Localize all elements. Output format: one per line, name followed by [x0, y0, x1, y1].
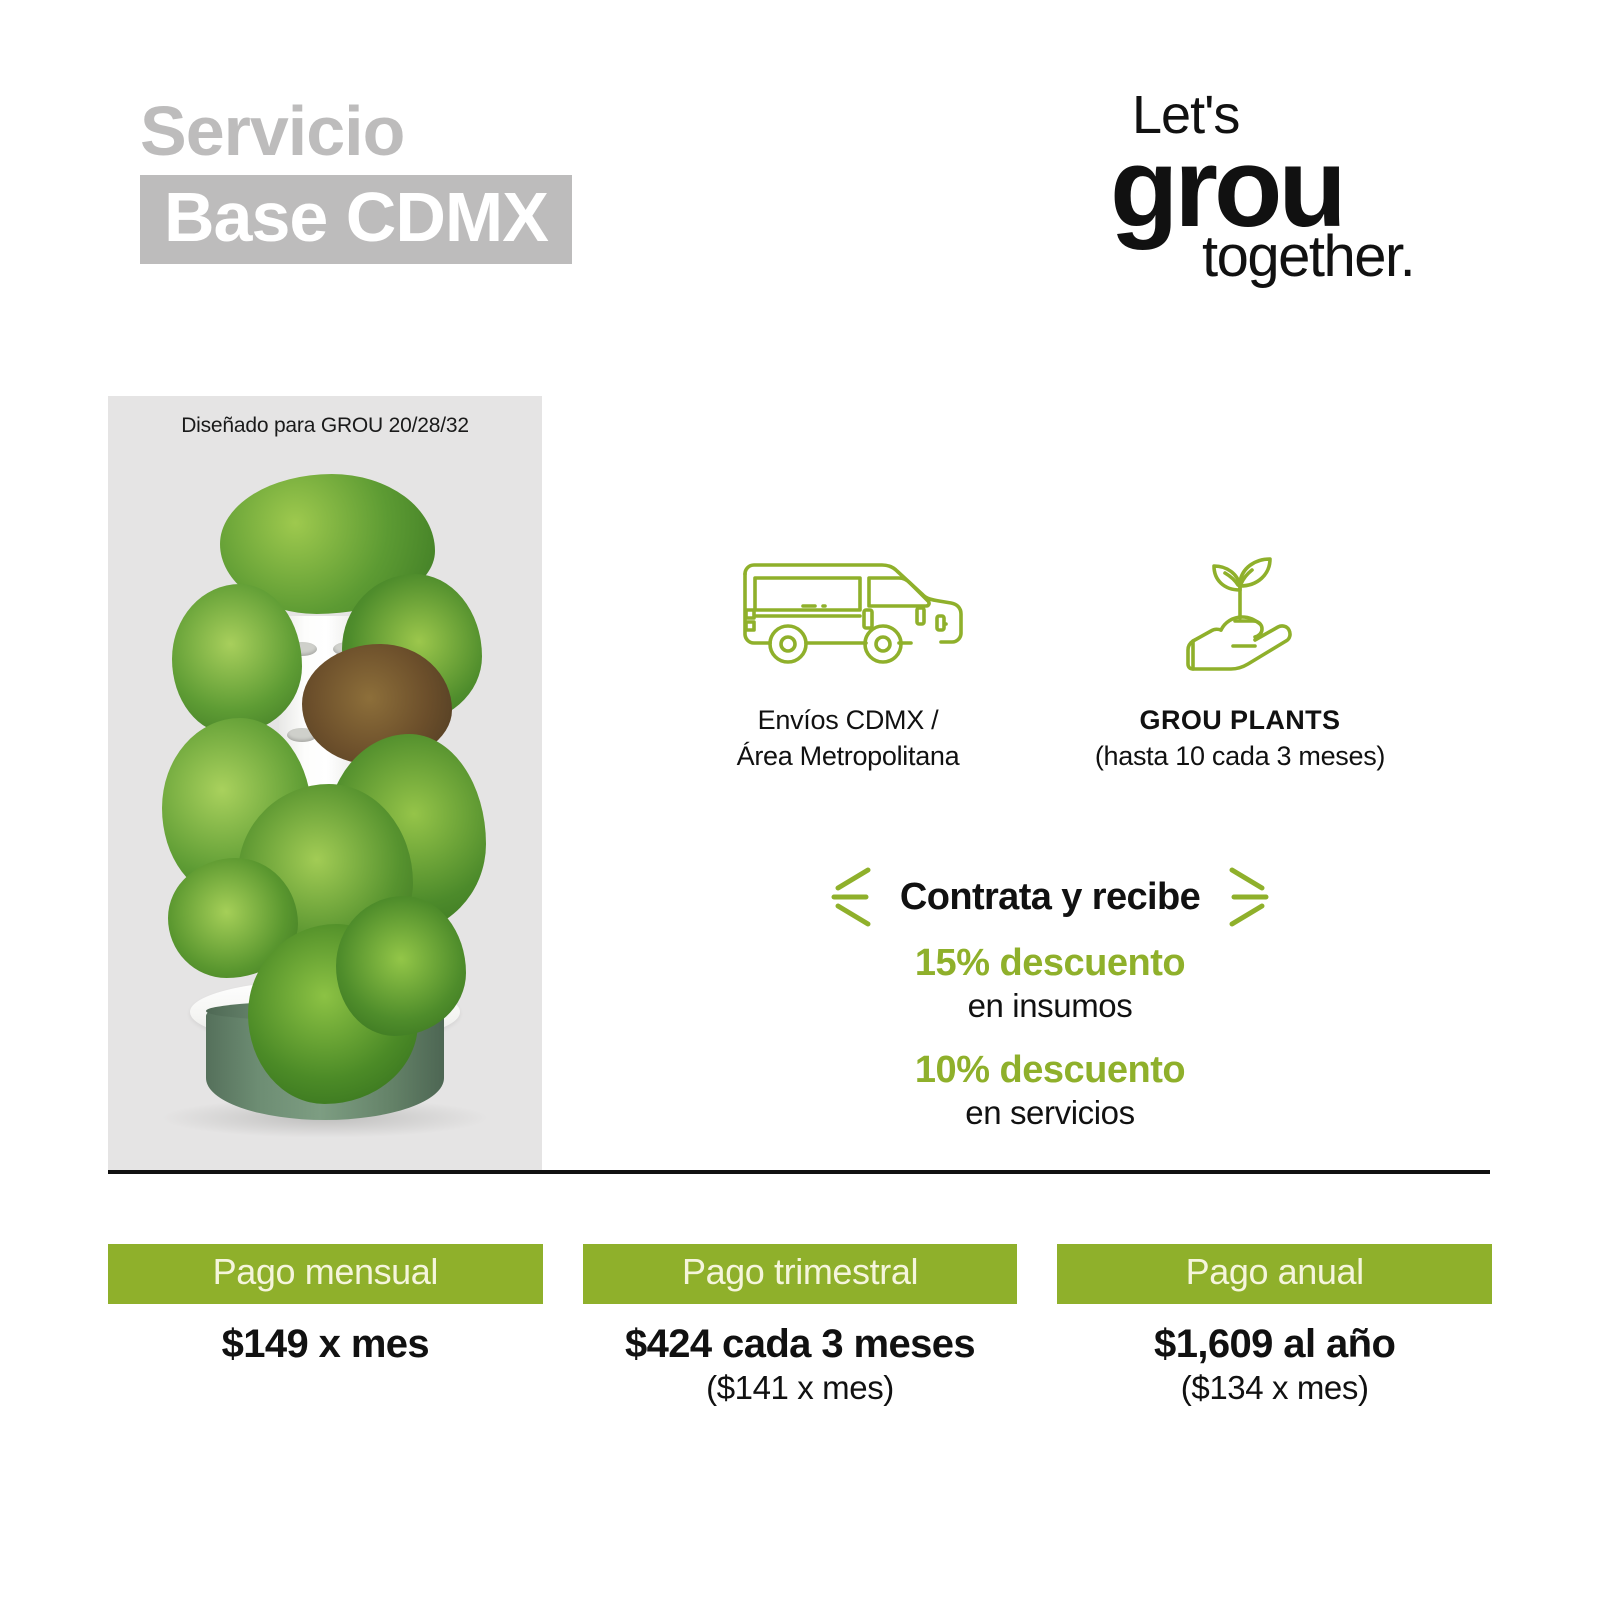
price-card-monthly-amount: $149 x mes: [108, 1322, 543, 1367]
logo-text-together: together.: [1202, 228, 1414, 286]
contrata-heading: Contrata y recibe: [900, 876, 1200, 919]
price-card-annual[interactable]: Pago anual $1,609 al año ($134 x mes): [1057, 1244, 1492, 1407]
delivery-van-icon: [658, 545, 1038, 685]
feature-plants-label: GROU PLANTS (hasta 10 cada 3 meses): [1040, 703, 1440, 774]
product-caption: Diseñado para GROU 20/28/32: [108, 414, 542, 438]
section-divider: [108, 1170, 1490, 1174]
discount-2-percent: 10% descuento: [700, 1049, 1400, 1092]
price-card-quarterly-title: Pago trimestral: [583, 1244, 1018, 1304]
hand-sprout-icon: [1040, 545, 1440, 685]
price-card-quarterly-amount: $424 cada 3 meses: [583, 1322, 1018, 1367]
price-card-monthly-title: Pago mensual: [108, 1244, 543, 1304]
poster-root: Servicio Base CDMX Let's grou together. …: [0, 0, 1600, 1600]
contrata-heading-row: Contrata y recibe: [700, 862, 1400, 932]
feature-shipping: Envíos CDMX / Área Metropolitana: [658, 545, 1038, 774]
feature-shipping-label: Envíos CDMX / Área Metropolitana: [658, 703, 1038, 774]
feature-shipping-line2: Área Metropolitana: [737, 741, 960, 771]
foliage-upper-left: [172, 584, 302, 734]
feature-plants-line2: (hasta 10 cada 3 meses): [1095, 741, 1385, 771]
price-card-monthly[interactable]: Pago mensual $149 x mes: [108, 1244, 543, 1407]
discount-1-percent: 15% descuento: [700, 942, 1400, 985]
grou-logo: Let's grou together.: [1090, 88, 1450, 288]
feature-shipping-line1: Envíos CDMX /: [758, 705, 939, 735]
discounts-section: Contrata y recibe 15% descuento en insum…: [700, 862, 1400, 1132]
title-line-base-cdmx: Base CDMX: [140, 175, 572, 265]
feature-plants: GROU PLANTS (hasta 10 cada 3 meses): [1040, 545, 1440, 774]
price-card-quarterly[interactable]: Pago trimestral $424 cada 3 meses ($141 …: [583, 1244, 1018, 1407]
sparkle-rays-right-icon: [1226, 862, 1272, 932]
discount-1-scope: en insumos: [700, 987, 1400, 1025]
price-card-annual-title: Pago anual: [1057, 1244, 1492, 1304]
pricing-section: Pago mensual $149 x mes Pago trimestral …: [108, 1244, 1492, 1407]
sparkle-rays-left-icon: [828, 862, 874, 932]
price-card-annual-permonth: ($134 x mes): [1057, 1369, 1492, 1407]
price-card-annual-amount: $1,609 al año: [1057, 1322, 1492, 1367]
product-image-panel: Diseñado para GROU 20/28/32: [108, 396, 542, 1172]
foliage-bottom-right: [336, 896, 466, 1036]
page-title: Servicio Base CDMX: [140, 95, 572, 264]
feature-plants-line1: GROU PLANTS: [1040, 703, 1440, 739]
discount-2-scope: en servicios: [700, 1094, 1400, 1132]
grou-tower-illustration: [160, 466, 490, 1156]
price-card-quarterly-permonth: ($141 x mes): [583, 1369, 1018, 1407]
title-line-servicio: Servicio: [140, 95, 572, 169]
